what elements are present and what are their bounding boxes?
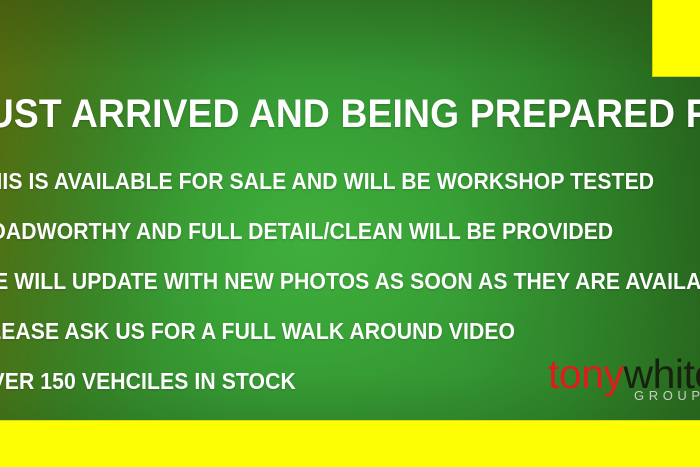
yellow-bottom-band xyxy=(0,420,700,467)
banner-line-availability: THIS IS AVAILABLE FOR SALE AND WILL BE W… xyxy=(0,168,700,195)
tony-white-group-logo: tonywhite GROUP xyxy=(548,352,700,414)
banner-headline: JUST ARRIVED AND BEING PREPARED FOR SALE xyxy=(0,92,691,137)
banner-line-photos: WE WILL UPDATE WITH NEW PHOTOS AS SOON A… xyxy=(0,268,700,295)
logo-tagline: GROUP xyxy=(634,388,700,403)
dealer-status-banner: JUST ARRIVED AND BEING PREPARED FOR SALE… xyxy=(0,0,700,467)
banner-line-roadworthy: ROADWORTHY AND FULL DETAIL/CLEAN WILL BE… xyxy=(0,218,700,245)
banner-line-walkaround-video: PLEASE ASK US FOR A FULL WALK AROUND VID… xyxy=(0,318,700,345)
logo-brand-primary: tony xyxy=(548,351,624,397)
